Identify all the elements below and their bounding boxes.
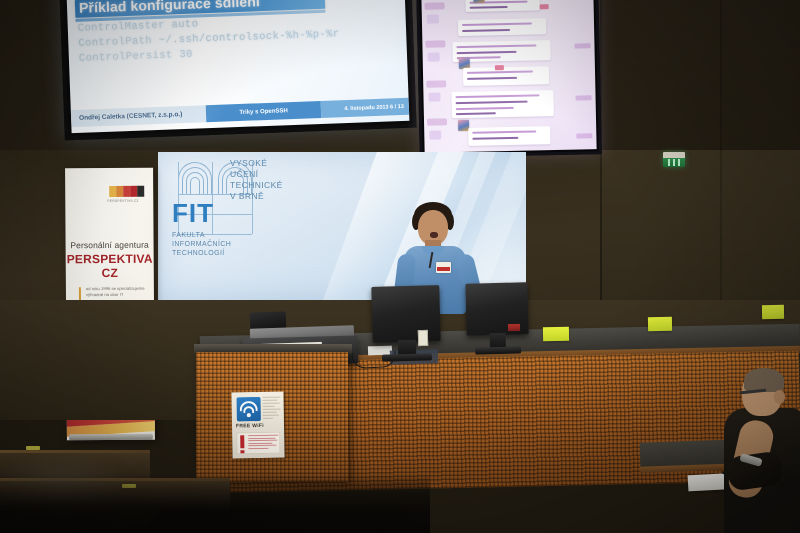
free-wifi-label: FREE WiFi (236, 423, 264, 429)
audience-member (718, 368, 800, 533)
presenter-name-badge (436, 262, 451, 273)
monitor-power-indicator (508, 324, 520, 331)
tweet-card (468, 126, 550, 146)
fit-faculty-line-1: FAKULTA (172, 232, 205, 241)
banner-base (69, 434, 153, 441)
banner-logo-caption: PERSPEKTIVA CZ (107, 199, 138, 203)
fit-faculty-line-2: INFORMAČNÍCH (172, 241, 231, 250)
slide-footer-talk-title: Triky s OpenSSH (239, 108, 288, 116)
twitter-wall-surface (421, 0, 596, 153)
twitter-wall-sidebar (421, 0, 452, 153)
slide-footer: Ondřej Caletka (CESNET, z.s.p.o.) Triky … (71, 98, 409, 127)
table-name-card (543, 327, 569, 341)
table-name-card (648, 317, 672, 331)
banner-bullet-item: od roku 1996 se specializujeme výhradně … (79, 286, 145, 298)
presenter-mouth (430, 232, 438, 238)
banner-brand: PERSPEKTIVA CZ (66, 252, 154, 281)
exit-sign (663, 152, 685, 167)
slide-footer-date-page: 4. listopadu 2013 6 / 13 (344, 103, 409, 111)
banner-headline: Personální agentura (66, 240, 154, 251)
perspektiva-logo-icon (109, 186, 144, 197)
step-edge-marker (26, 446, 40, 450)
fit-abbr: FIT (172, 200, 214, 226)
audience-ear (774, 390, 785, 404)
wifi-icon (237, 397, 261, 421)
monitor-label (418, 330, 428, 346)
banner-bullet-text: od roku 1996 se specializujeme výhradně … (86, 286, 145, 298)
slide-footer-author: Ondřej Caletka (CESNET, z.s.p.o.) (71, 111, 182, 122)
tweet-card (463, 66, 549, 86)
fit-faculty-line-3: TECHNOLOGIÍ (172, 250, 225, 259)
table-name-card (762, 305, 784, 319)
vut-institution-line-1: VYSOKÉ (230, 158, 267, 169)
tweet-card (458, 18, 546, 36)
foreground-shadow (0, 473, 430, 533)
twitter-wall-screen (416, 0, 601, 158)
vut-institution-line-4: V BRNĚ (230, 191, 264, 202)
free-wifi-sign: FREE WiFi (231, 392, 284, 459)
vut-institution-line-2: UČENÍ (230, 169, 258, 180)
exclamation-icon (240, 435, 244, 448)
slide-footer-author-cell: Ondřej Caletka (CESNET, z.s.p.o.) (71, 105, 207, 127)
wifi-sign-text-lines (263, 397, 281, 421)
slide-footer-title-cell: Triky s OpenSSH (206, 101, 321, 122)
vut-institution-line-3: TECHNICKÉ (230, 180, 283, 191)
monitor-left (371, 285, 440, 343)
main-projection-screen: ControlMaster. Příklad konfigurace sdíle… (59, 0, 416, 140)
tweet-card (451, 90, 554, 118)
wifi-warning-text-lines (248, 435, 278, 451)
slide-footer-date-cell: 4. listopadu 2013 6 / 13 (321, 98, 409, 118)
slide-surface: ControlMaster. Příklad konfigurace sdíle… (67, 0, 410, 133)
wifi-warning-block (236, 432, 280, 455)
lecture-hall-scene: ControlMaster. Příklad konfigurace sdíle… (0, 0, 800, 533)
